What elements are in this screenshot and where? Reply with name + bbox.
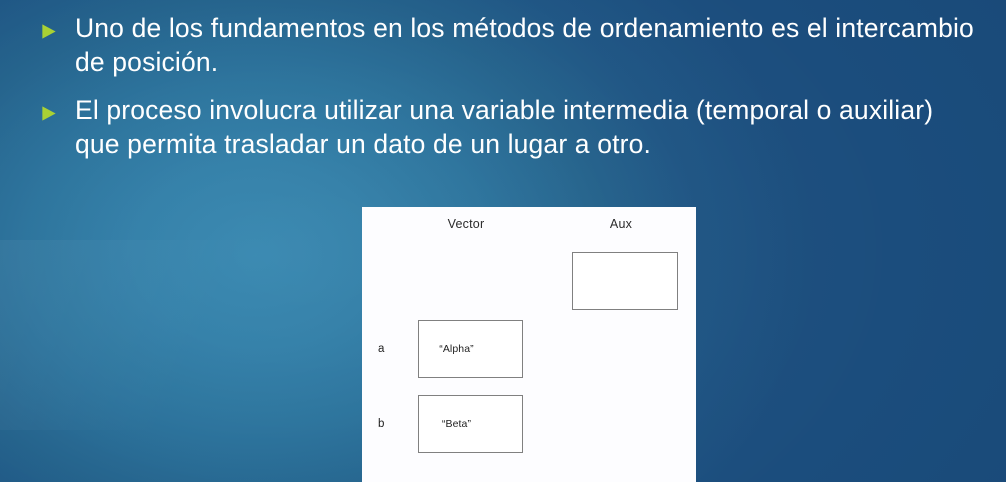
- triangle-right-icon: [36, 22, 62, 41]
- vector-cell-b: “Beta”: [418, 395, 523, 453]
- bullet-text-2: El proceso involucra utilizar una variab…: [75, 93, 975, 161]
- vector-cell-a: “Alpha”: [418, 320, 523, 378]
- bullet-text-1: Uno de los fundamentos en los métodos de…: [75, 11, 975, 79]
- bullet-item-2: El proceso involucra utilizar una variab…: [0, 79, 1006, 161]
- vector-cell-b-value: “Beta”: [442, 418, 471, 430]
- vector-cell-a-value: “Alpha”: [439, 343, 474, 355]
- column-header-aux: Aux: [581, 217, 661, 231]
- row-label-b: b: [378, 418, 384, 430]
- column-header-vector: Vector: [426, 217, 506, 231]
- swap-diagram-image: Vector Aux a “Alpha” b “Beta”: [362, 207, 696, 482]
- aux-variable-box: [572, 252, 678, 310]
- background-light-streak: [0, 240, 320, 430]
- triangle-right-icon: [36, 104, 62, 123]
- row-label-a: a: [378, 343, 384, 355]
- slide-body-text: Uno de los fundamentos en los métodos de…: [0, 0, 1006, 161]
- bullet-item-1: Uno de los fundamentos en los métodos de…: [0, 0, 1006, 79]
